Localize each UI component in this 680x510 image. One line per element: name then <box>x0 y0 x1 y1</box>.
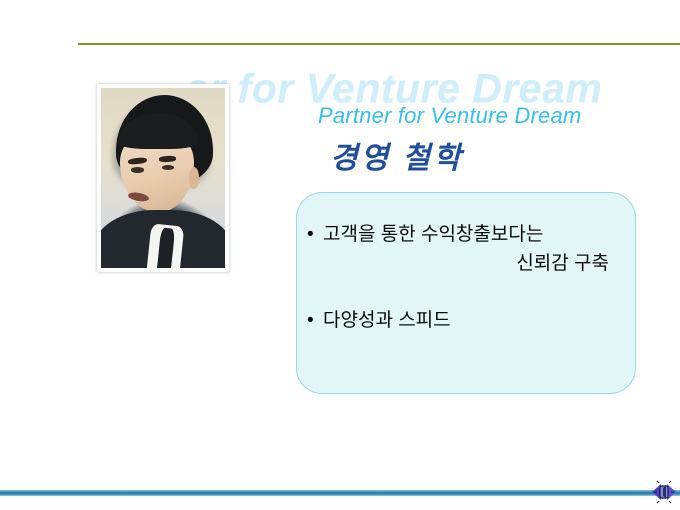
slide-canvas: er for Venture Dream Partner for Venture… <box>0 0 680 510</box>
photo-ear-shape <box>189 167 199 189</box>
portrait-photo-image <box>101 88 225 268</box>
list-item: • 다양성과 스피드 <box>307 309 621 333</box>
bullet-spacer <box>307 277 621 309</box>
speaker-icon[interactable] <box>650 479 678 505</box>
bullet-text-primary: 고객을 통한 수익창출보다는 <box>323 223 621 247</box>
photo-eye-left-shape <box>131 167 145 172</box>
top-divider-rule <box>78 43 680 45</box>
bullet-text-secondary: 신뢰감 구축 <box>307 252 621 276</box>
photo-eyebrow-right-shape <box>159 155 177 162</box>
portrait-photo <box>97 84 229 272</box>
slide-subtitle-english: Partner for Venture Dream <box>318 103 581 129</box>
bullet-list: • 고객을 통한 수익창출보다는 신뢰감 구축 • 다양성과 스피드 <box>307 223 621 333</box>
bottom-divider-rule <box>0 490 680 496</box>
bullet-dot-icon: • <box>307 223 323 247</box>
content-panel: • 고객을 통한 수익창출보다는 신뢰감 구축 • 다양성과 스피드 <box>296 192 636 394</box>
list-item: • 고객을 통한 수익창출보다는 <box>307 223 621 247</box>
bullet-dot-icon: • <box>307 309 323 333</box>
slide-title-korean: 경영 철학 <box>330 133 464 177</box>
photo-eye-right-shape <box>162 165 174 170</box>
bullet-text-primary: 다양성과 스피드 <box>323 309 621 333</box>
